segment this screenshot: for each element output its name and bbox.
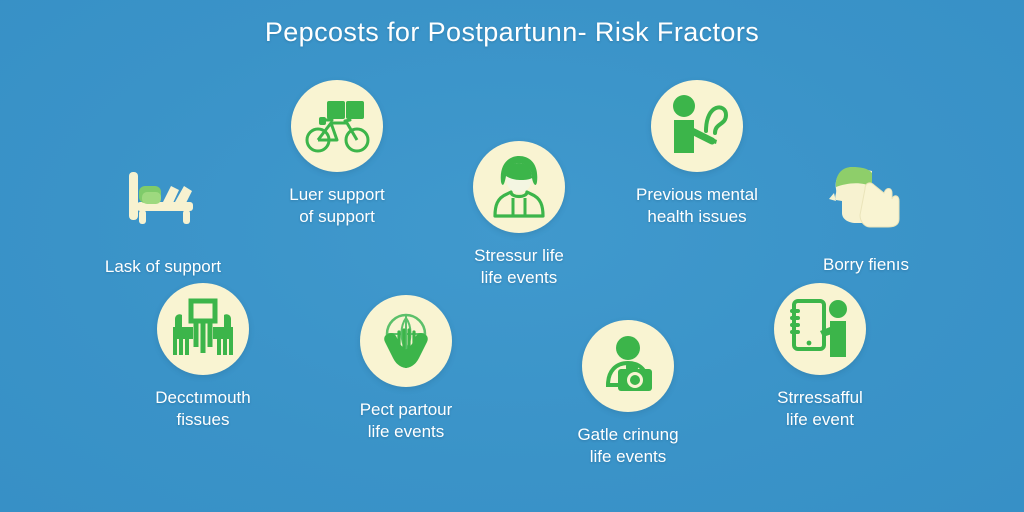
risk-factor-relationship-issues[interactable]: Decctımouth fissues xyxy=(98,283,308,432)
person-camera-icon xyxy=(582,320,674,412)
risk-factor-label: Luer support of support xyxy=(289,184,384,229)
woman-figure-icon xyxy=(473,141,565,233)
person-question-icon xyxy=(651,80,743,172)
risk-factor-label: Gatle crinung life events xyxy=(577,424,678,469)
risk-factor-label: Strressafful life event xyxy=(777,387,863,432)
risk-factor-label: Stressur life life events xyxy=(474,245,564,290)
risk-factor-label: Borry fienıs xyxy=(823,254,909,276)
risk-factor-stressful-life-event[interactable]: Strressafful life event xyxy=(715,283,925,432)
risk-factor-peer-support[interactable]: Luer support of support xyxy=(232,80,442,229)
risk-factor-label: Pect partour life events xyxy=(360,399,453,444)
risk-factor-worry-feelings[interactable]: Borry fienıs xyxy=(761,150,971,276)
bed-icon xyxy=(117,152,209,244)
infographic-canvas: Pepcosts for Postpartunn- Risk Fractors … xyxy=(0,0,1024,512)
chairs-table-icon xyxy=(157,283,249,375)
page-title: Pepcosts for Postpartunn- Risk Fractors xyxy=(0,17,1024,48)
risk-factor-screening[interactable]: Gatle crinung life events xyxy=(523,320,733,469)
risk-factor-label: Lask of support xyxy=(105,256,221,278)
person-tablet-icon xyxy=(774,283,866,375)
head-hand-icon xyxy=(820,150,912,242)
risk-factor-label: Previous mental health issues xyxy=(636,184,758,229)
caring-hands-icon xyxy=(360,295,452,387)
risk-factor-label: Decctımouth fissues xyxy=(155,387,250,432)
delivery-bicycle-icon xyxy=(291,80,383,172)
risk-factor-postpartum-care[interactable]: Pect partour life events xyxy=(301,295,511,444)
